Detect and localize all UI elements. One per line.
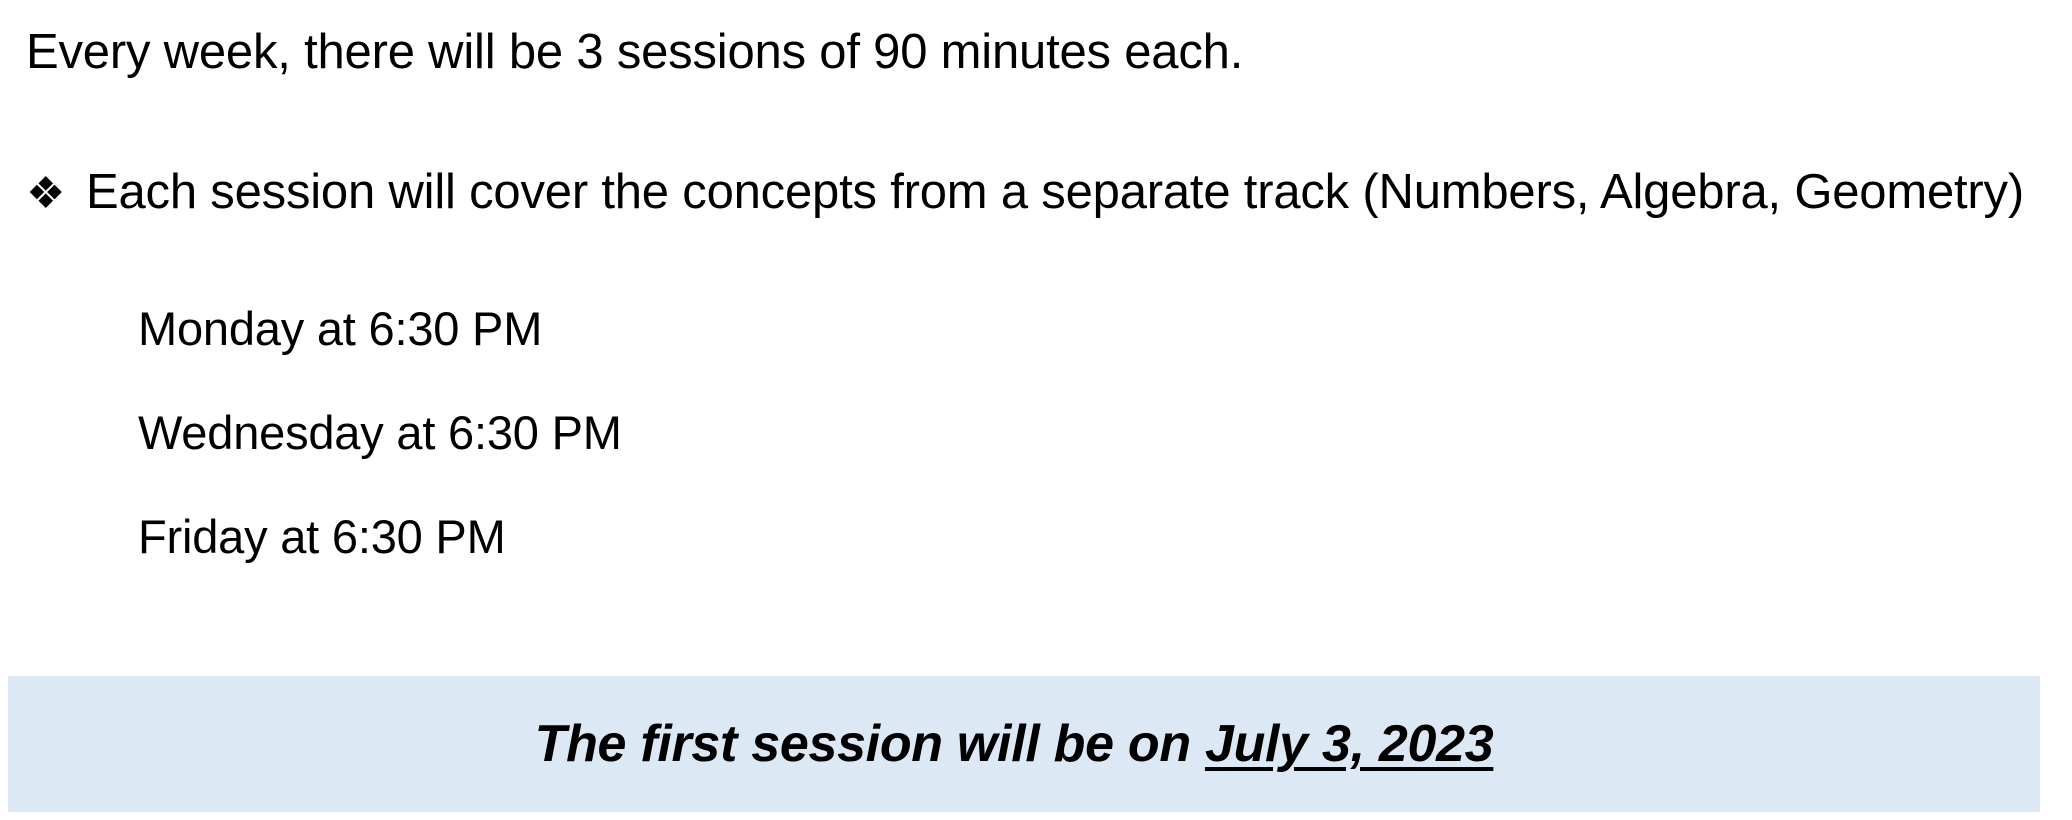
session-line-monday: Monday at 6:30 PM (138, 300, 542, 358)
session-line-wednesday: Wednesday at 6:30 PM (138, 404, 622, 462)
banner-date-text: July 3, 2023 (1205, 715, 1493, 773)
bullet-item: ❖ Each session will cover the concepts f… (26, 162, 2024, 224)
banner-lead-text: The first session will be on (535, 715, 1205, 773)
slide-canvas: Every week, there will be 3 sessions of … (0, 0, 2072, 820)
banner-text: The first session will be on July 3, 202… (535, 713, 1494, 775)
session-line-friday: Friday at 6:30 PM (138, 508, 506, 566)
highlight-banner: The first session will be on July 3, 202… (8, 676, 2040, 812)
bullet-item-label: Each session will cover the concepts fro… (86, 162, 2024, 222)
intro-paragraph: Every week, there will be 3 sessions of … (26, 22, 1243, 82)
diamond-bullet-icon: ❖ (26, 164, 86, 224)
